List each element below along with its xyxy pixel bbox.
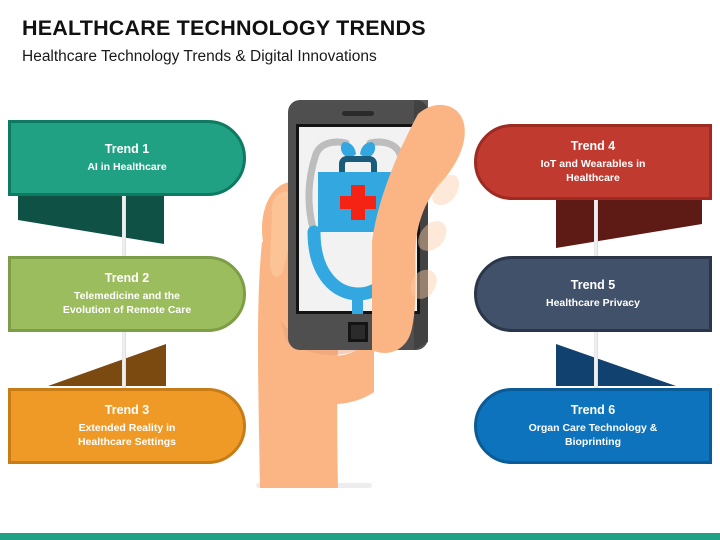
slide-canvas: HEALTHCARE TECHNOLOGY TRENDS Healthcare … <box>0 0 720 540</box>
connector-right-5-6 <box>594 330 598 392</box>
wedge-trend-4 <box>556 200 702 248</box>
connector-left-1-2 <box>122 196 126 260</box>
card-trend-5[interactable]: Trend 5 Healthcare Privacy <box>474 256 712 332</box>
stethoscope-stem <box>352 290 363 314</box>
card-trend-5-subtitle: Healthcare Privacy <box>546 296 640 310</box>
card-trend-3-subtitle-line2: Healthcare Settings <box>78 435 176 449</box>
card-trend-6-subtitle-line1: Organ Care Technology & <box>529 421 658 435</box>
card-trend-5-title: Trend 5 <box>571 278 615 294</box>
card-trend-3-title: Trend 3 <box>105 403 149 419</box>
wedge-trend-1 <box>18 196 164 244</box>
page-title: HEALTHCARE TECHNOLOGY TRENDS <box>22 16 662 41</box>
card-trend-4-title: Trend 4 <box>571 139 615 155</box>
header: HEALTHCARE TECHNOLOGY TRENDS Healthcare … <box>22 16 662 66</box>
card-trend-4-subtitle-line1: IoT and Wearables in <box>541 157 646 171</box>
card-trend-4[interactable]: Trend 4 IoT and Wearables in Healthcare <box>474 124 712 200</box>
card-trend-2-subtitle-line1: Telemedicine and the <box>74 289 180 303</box>
card-trend-1-subtitle: AI in Healthcare <box>87 160 166 174</box>
card-trend-6-subtitle-line2: Bioprinting <box>565 435 621 449</box>
card-trend-6-title: Trend 6 <box>571 403 615 419</box>
phone-speaker <box>342 111 374 116</box>
wedge-trend-2 <box>48 344 166 386</box>
page-subtitle: Healthcare Technology Trends & Digital I… <box>22 48 662 67</box>
card-trend-6[interactable]: Trend 6 Organ Care Technology & Bioprint… <box>474 388 712 464</box>
card-trend-1-title: Trend 1 <box>105 142 149 158</box>
connector-left-2-3 <box>122 330 126 392</box>
card-trend-2[interactable]: Trend 2 Telemedicine and the Evolution o… <box>8 256 246 332</box>
phone-home-button-inner <box>351 325 365 339</box>
bottom-accent-band <box>0 533 720 540</box>
card-trend-2-subtitle-line2: Evolution of Remote Care <box>63 303 191 317</box>
card-trend-3[interactable]: Trend 3 Extended Reality in Healthcare S… <box>8 388 246 464</box>
hand-holding-phone-illustration <box>250 92 475 492</box>
card-trend-2-title: Trend 2 <box>105 271 149 287</box>
card-trend-1[interactable]: Trend 1 AI in Healthcare <box>8 120 246 196</box>
card-trend-3-subtitle-line1: Extended Reality in <box>79 421 176 435</box>
connector-right-4-5 <box>594 200 598 262</box>
wedge-trend-5 <box>556 344 676 386</box>
card-trend-4-subtitle-line2: Healthcare <box>566 171 620 185</box>
